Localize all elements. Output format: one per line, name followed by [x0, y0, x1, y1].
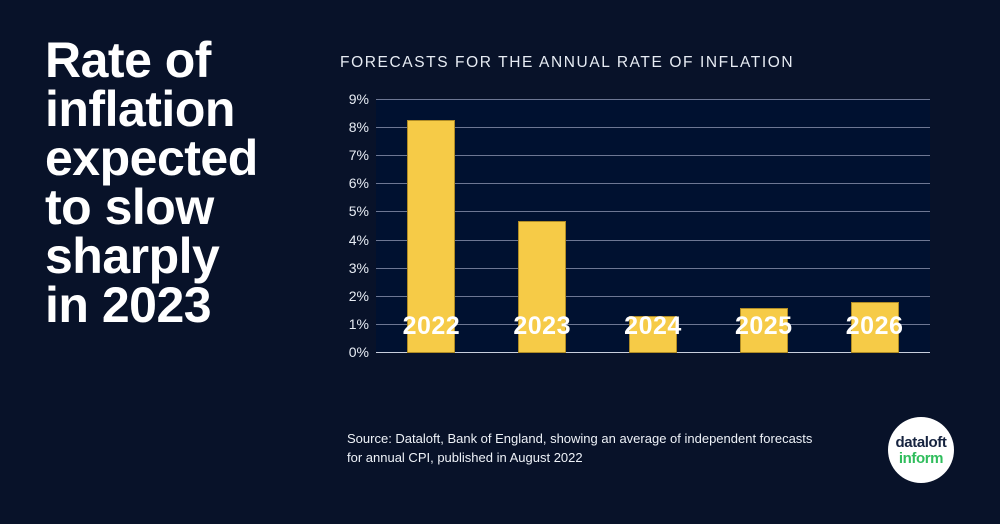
y-axis-tick-label: 3% [349, 260, 369, 276]
y-axis-tick-label: 9% [349, 91, 369, 107]
y-axis-tick-label: 2% [349, 288, 369, 304]
x-axis-label-2026: 2026 [819, 312, 930, 341]
x-axis-label-2024: 2024 [598, 312, 709, 341]
x-axis-label-2023: 2023 [487, 312, 598, 341]
logo-top-text: dataloft [896, 435, 947, 450]
y-axis-tick-label: 8% [349, 119, 369, 135]
y-axis-tick-label: 1% [349, 316, 369, 332]
x-axis-label-2025: 2025 [708, 312, 819, 341]
y-axis-tick-label: 5% [349, 203, 369, 219]
x-axis-label-2022: 2022 [376, 312, 487, 341]
logo-bottom-text: inform [899, 451, 943, 466]
source-note: Source: Dataloft, Bank of England, showi… [347, 430, 827, 468]
chart-container: FORECASTS FOR THE ANNUAL RATE OF INFLATI… [338, 54, 938, 394]
y-axis-tick-label: 4% [349, 232, 369, 248]
y-axis-tick-label: 6% [349, 175, 369, 191]
chart-title: FORECASTS FOR THE ANNUAL RATE OF INFLATI… [340, 54, 938, 72]
dataloft-inform-logo: dataloft inform [888, 417, 954, 483]
y-axis-tick-label: 0% [349, 344, 369, 360]
y-axis-tick-label: 7% [349, 147, 369, 163]
x-axis-labels: 20222023202420252026 [376, 312, 930, 341]
page-headline: Rate of inflation expected to slow sharp… [45, 36, 315, 330]
